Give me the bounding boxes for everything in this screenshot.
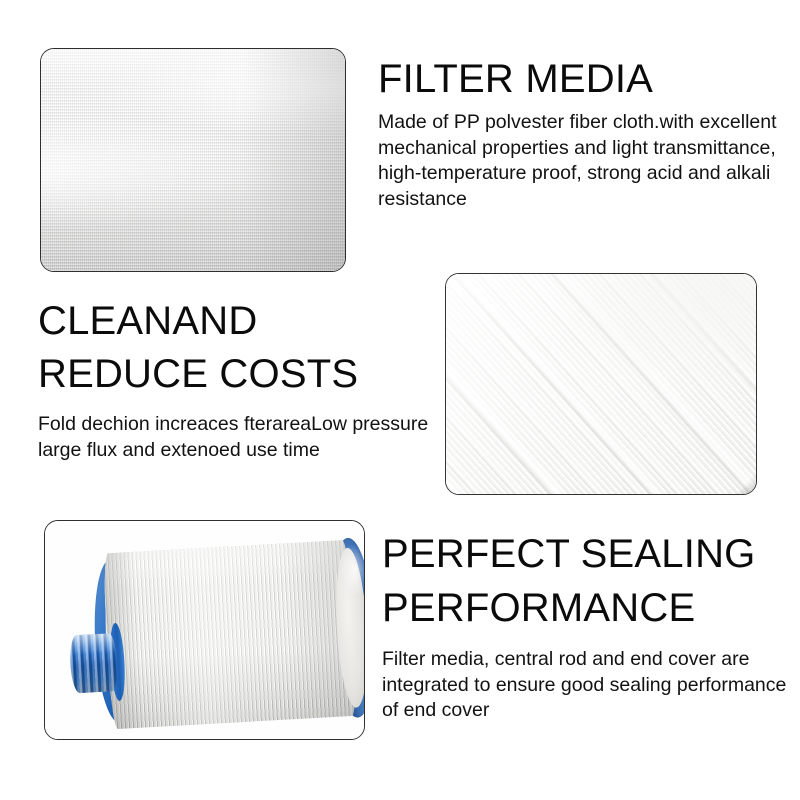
cartridge-body-shading <box>102 540 357 729</box>
filter-media-text-block: FILTER MEDIA Made of PP polvester fiber … <box>378 56 778 212</box>
fabric-right-shadow <box>242 49 345 271</box>
clean-and-reduce-costs-headline: CLEANAND REDUCE COSTS <box>38 295 433 401</box>
filter-media-body: Made of PP polvester fiber cloth.with ex… <box>378 110 778 212</box>
pleated-corner-shadow <box>732 474 756 494</box>
filter-cartridge-photo <box>44 520 365 740</box>
perfect-sealing-performance-headline: PERFECT SEALING PERFORMANCE <box>382 527 794 635</box>
filter-media-headline: FILTER MEDIA <box>378 56 778 102</box>
clean-and-reduce-costs-body: Fold dechion increaces fterareaLow press… <box>38 412 433 463</box>
nipple-shading <box>69 633 118 693</box>
infographic-page: FILTER MEDIA Made of PP polvester fiber … <box>0 0 800 800</box>
pleated-fabric-photo <box>445 273 757 495</box>
pleated-sheen-layer <box>446 274 756 494</box>
cartridge-threaded-nipple <box>69 633 118 693</box>
photo-inner <box>446 274 756 494</box>
perfect-sealing-performance-text-block: PERFECT SEALING PERFORMANCE Filter media… <box>382 527 794 724</box>
clean-and-reduce-costs-text-block: CLEANAND REDUCE COSTS Fold dechion incre… <box>38 295 433 463</box>
filter-media-fabric-photo <box>40 48 346 272</box>
filter-cartridge-illustration <box>68 533 365 735</box>
photo-inner <box>41 49 345 271</box>
cartridge-pleated-body <box>102 540 357 729</box>
perfect-sealing-performance-body: Filter media, central rod and end cover … <box>382 647 794 724</box>
